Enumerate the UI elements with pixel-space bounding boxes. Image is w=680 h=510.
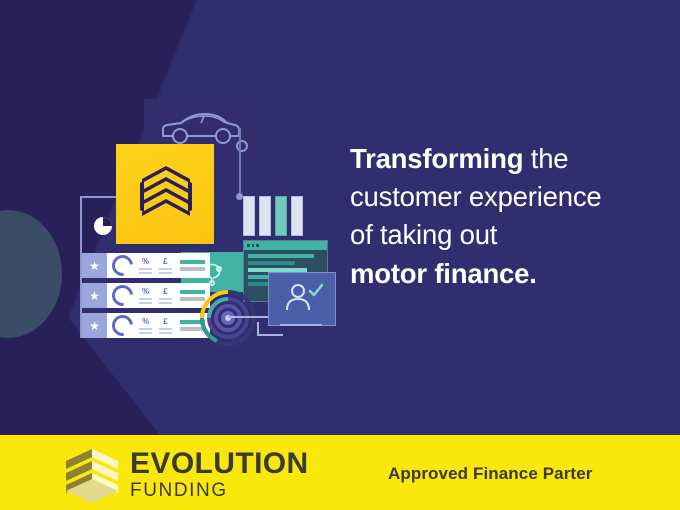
bar-item (291, 196, 303, 236)
star-icon: ★ (82, 283, 107, 308)
page-title: Transforming the customer experience of … (350, 140, 668, 293)
headline-line-1: Transforming the (350, 140, 668, 178)
headline-line-2: customer experience (350, 178, 668, 216)
donut-chart-icon (108, 311, 137, 340)
list-item[interactable]: ★ % £ (82, 313, 210, 338)
user-verified-card (268, 272, 336, 326)
connector-line-vertical (239, 128, 241, 196)
connector-node (236, 193, 243, 200)
bar-item (275, 196, 287, 236)
hero-illustration: ★ % £ ★ (0, 0, 360, 440)
brand-primary: EVOLUTION (130, 449, 309, 479)
document-bars (243, 196, 303, 236)
headline-line-4: motor finance. (350, 255, 668, 293)
window-dot (247, 244, 250, 247)
pie-chart-icon (92, 215, 114, 237)
star-icon: ★ (82, 313, 107, 338)
price-stat: £ (158, 288, 173, 304)
brand-wordmark: EVOLUTION FUNDING (130, 449, 309, 503)
bar-item (259, 196, 271, 236)
footer-bar: EVOLUTION FUNDING Approved Finance Parte… (0, 435, 680, 510)
connector-pin-head (236, 140, 248, 152)
price-stat: £ (158, 258, 173, 274)
list-item[interactable]: ★ % £ (82, 283, 210, 308)
brand-badge-tile (116, 144, 214, 244)
row-body: % £ (107, 283, 210, 308)
percent-stat: % (138, 318, 153, 334)
list-item[interactable]: ★ % £ (82, 253, 210, 278)
headline-emphasis: Transforming (350, 143, 523, 174)
star-icon: ★ (82, 253, 107, 278)
donut-chart-icon (108, 281, 137, 310)
row-body: % £ (107, 313, 210, 338)
stand-foot (257, 334, 283, 336)
listing-rows: ★ % £ ★ (82, 253, 210, 343)
window-titlebar (244, 241, 327, 250)
price-stat: £ (158, 318, 173, 334)
progress-bars (178, 260, 205, 271)
donut-chart-icon (108, 251, 137, 280)
evolution-chevron-mark-icon (62, 447, 124, 503)
concentric-radar-icon (199, 289, 257, 347)
footer-tagline: Approved Finance Parter (388, 464, 592, 484)
promo-banner: ★ % £ ★ (0, 0, 680, 510)
percent-stat: % (138, 288, 153, 304)
headline-line-3: of taking out (350, 216, 668, 254)
stand-line (280, 324, 322, 326)
brand-secondary: FUNDING (130, 479, 309, 503)
row-body: % £ (107, 253, 210, 278)
bar-item (243, 196, 255, 236)
percent-stat: % (138, 258, 153, 274)
window-dot (256, 244, 259, 247)
window-dot (252, 244, 255, 247)
